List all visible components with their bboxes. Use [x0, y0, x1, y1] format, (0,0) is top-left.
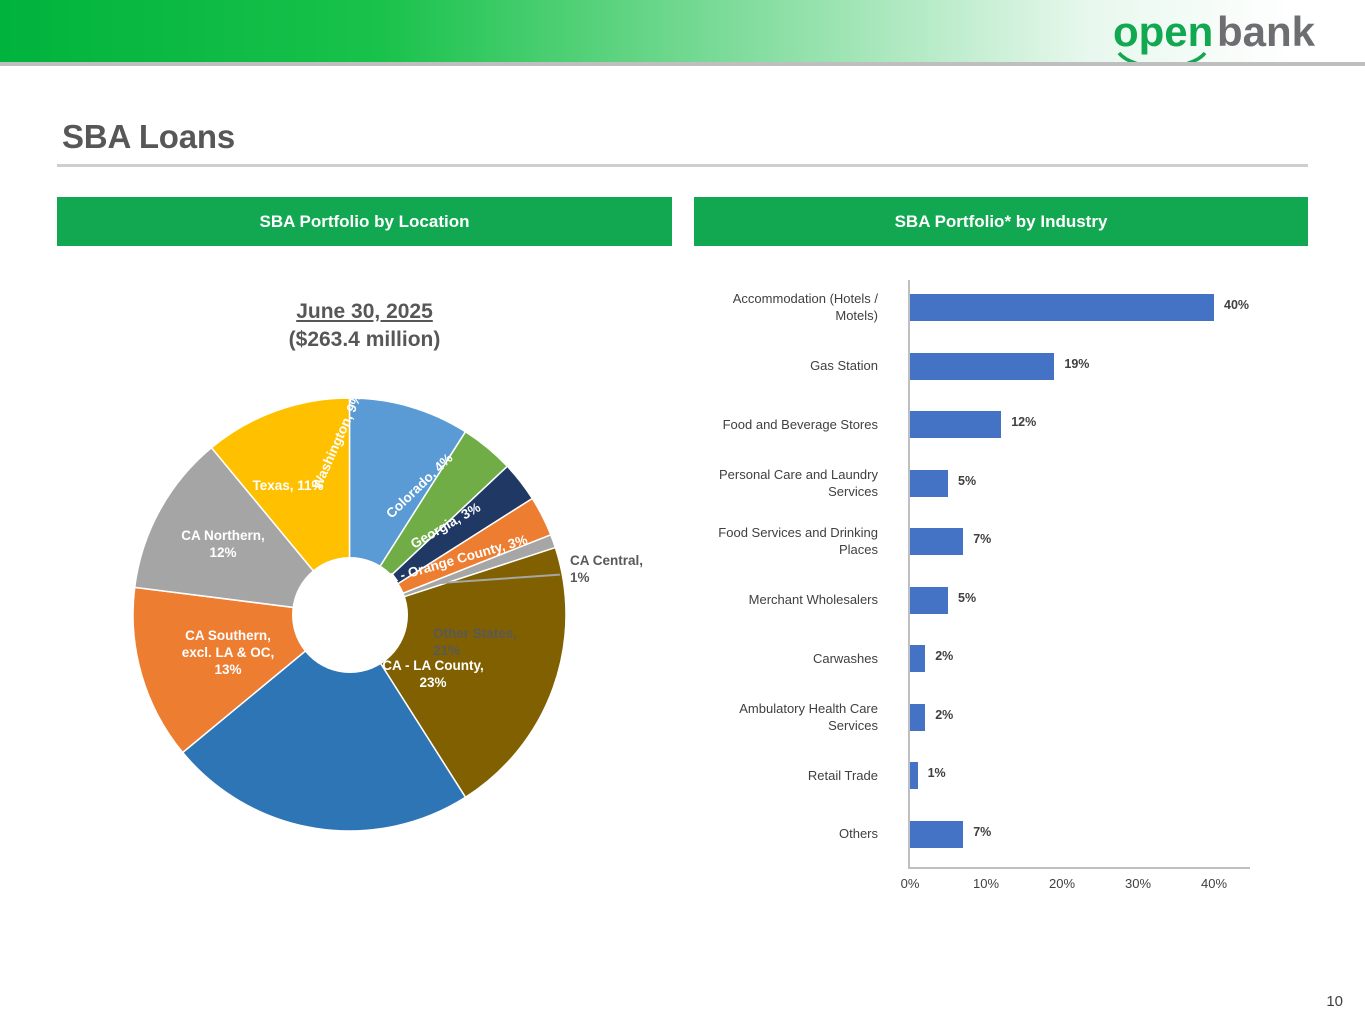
bar: [910, 704, 925, 731]
bar-value-label: 5%: [958, 474, 976, 488]
bar-category-label: Personal Care and Laundry Services: [700, 456, 878, 512]
bar: [910, 645, 925, 672]
openbank-logo: open bank: [1105, 6, 1355, 62]
bar-track: 19%: [908, 339, 1268, 395]
bar-track: 5%: [908, 573, 1268, 629]
bar-track: 40%: [908, 280, 1268, 336]
x-axis-tick-label: 20%: [1049, 876, 1075, 891]
page-number: 10: [1326, 993, 1343, 1010]
svg-text:open: open: [1113, 8, 1213, 55]
bar-value-label: 2%: [935, 708, 953, 722]
bar-category-label: Ambulatory Health Care Services: [700, 690, 878, 746]
x-axis-tick-label: 0%: [901, 876, 920, 891]
bar-category-label: Merchant Wholesalers: [700, 573, 878, 629]
bar-value-label: 5%: [958, 591, 976, 605]
bar: [910, 470, 948, 497]
panel-header-location: SBA Portfolio by Location: [57, 197, 672, 246]
bar: [910, 762, 918, 789]
bar-value-label: 1%: [928, 766, 946, 780]
bar-category-label: Gas Station: [700, 339, 878, 395]
bar: [910, 528, 963, 555]
pie-caption-amount: ($263.4 million): [57, 328, 672, 352]
sba-portfolio-by-location-donut: Washington, 9% Colorado, 4% Georgia, 3% …: [133, 398, 566, 831]
pie-caption-date: June 30, 2025: [57, 300, 672, 324]
bar-category-label: Food Services and Drinking Places: [700, 514, 878, 570]
bar: [910, 294, 1214, 321]
x-axis-tick-label: 40%: [1201, 876, 1227, 891]
sba-portfolio-by-industry-chart: Accommodation (Hotels / Motels)40%Gas St…: [700, 280, 1300, 900]
bar-track: 1%: [908, 748, 1268, 804]
bar-value-label: 19%: [1064, 357, 1089, 371]
bar-category-label: Carwashes: [700, 631, 878, 687]
donut-center-hole: [292, 557, 408, 673]
bar-value-label: 40%: [1224, 298, 1249, 312]
bar-track: 5%: [908, 456, 1268, 512]
bar: [910, 353, 1054, 380]
bar: [910, 821, 963, 848]
bar-value-label: 7%: [973, 825, 991, 839]
bar: [910, 587, 948, 614]
bar-track: 7%: [908, 514, 1268, 570]
panel-header-industry: SBA Portfolio* by Industry: [694, 197, 1308, 246]
bar-value-label: 2%: [935, 649, 953, 663]
bar-track: 7%: [908, 807, 1268, 863]
x-axis-tick-label: 10%: [973, 876, 999, 891]
page-title: SBA Loans: [62, 118, 235, 156]
bar-track: 2%: [908, 631, 1268, 687]
bar-category-label: Food and Beverage Stores: [700, 397, 878, 453]
x-axis-line: [908, 867, 1250, 869]
title-divider: [57, 164, 1308, 167]
bar-category-label: Accommodation (Hotels / Motels): [700, 280, 878, 336]
bar-category-label: Others: [700, 807, 878, 863]
bar: [910, 411, 1001, 438]
pie-caption: June 30, 2025 ($263.4 million): [57, 300, 672, 352]
top-divider: [0, 62, 1365, 66]
bar-track: 2%: [908, 690, 1268, 746]
bar-value-label: 7%: [973, 532, 991, 546]
x-axis-tick-label: 30%: [1125, 876, 1151, 891]
svg-text:bank: bank: [1217, 8, 1316, 55]
bar-value-label: 12%: [1011, 415, 1036, 429]
bar-category-label: Retail Trade: [700, 748, 878, 804]
slice-label-ca-central: CA Central, 1%: [570, 553, 680, 587]
bar-track: 12%: [908, 397, 1268, 453]
